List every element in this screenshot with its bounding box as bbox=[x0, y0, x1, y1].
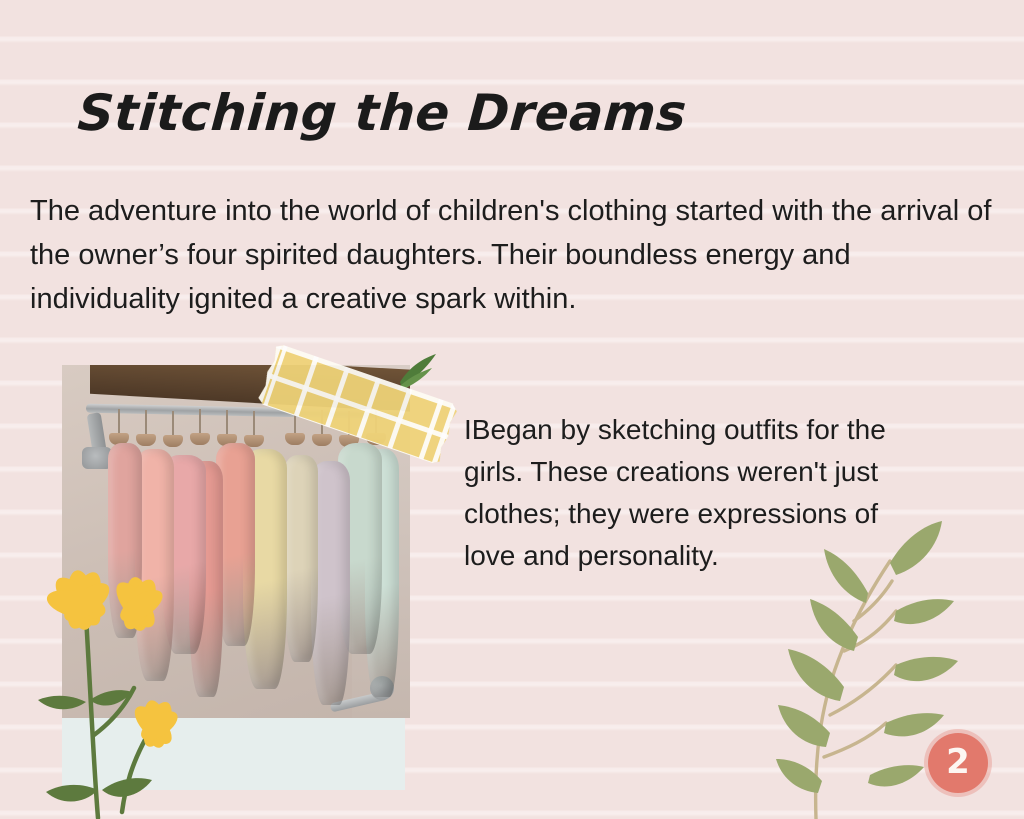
intro-paragraph: The adventure into the world of children… bbox=[30, 189, 1000, 321]
hanger bbox=[199, 409, 201, 435]
page-number-badge: 2 bbox=[928, 733, 988, 793]
hanger bbox=[253, 411, 255, 437]
hanger bbox=[226, 410, 228, 436]
page-title: Stitching the Dreams bbox=[76, 84, 689, 142]
hanger bbox=[172, 411, 174, 437]
page-number-label: 2 bbox=[946, 745, 970, 779]
yellow-flowers-decoration bbox=[0, 560, 214, 819]
hanger bbox=[118, 409, 120, 435]
side-paragraph: IBegan by sketching outfits for the girl… bbox=[464, 409, 934, 577]
hanger bbox=[145, 410, 147, 436]
cream-floral-dress bbox=[284, 455, 318, 662]
